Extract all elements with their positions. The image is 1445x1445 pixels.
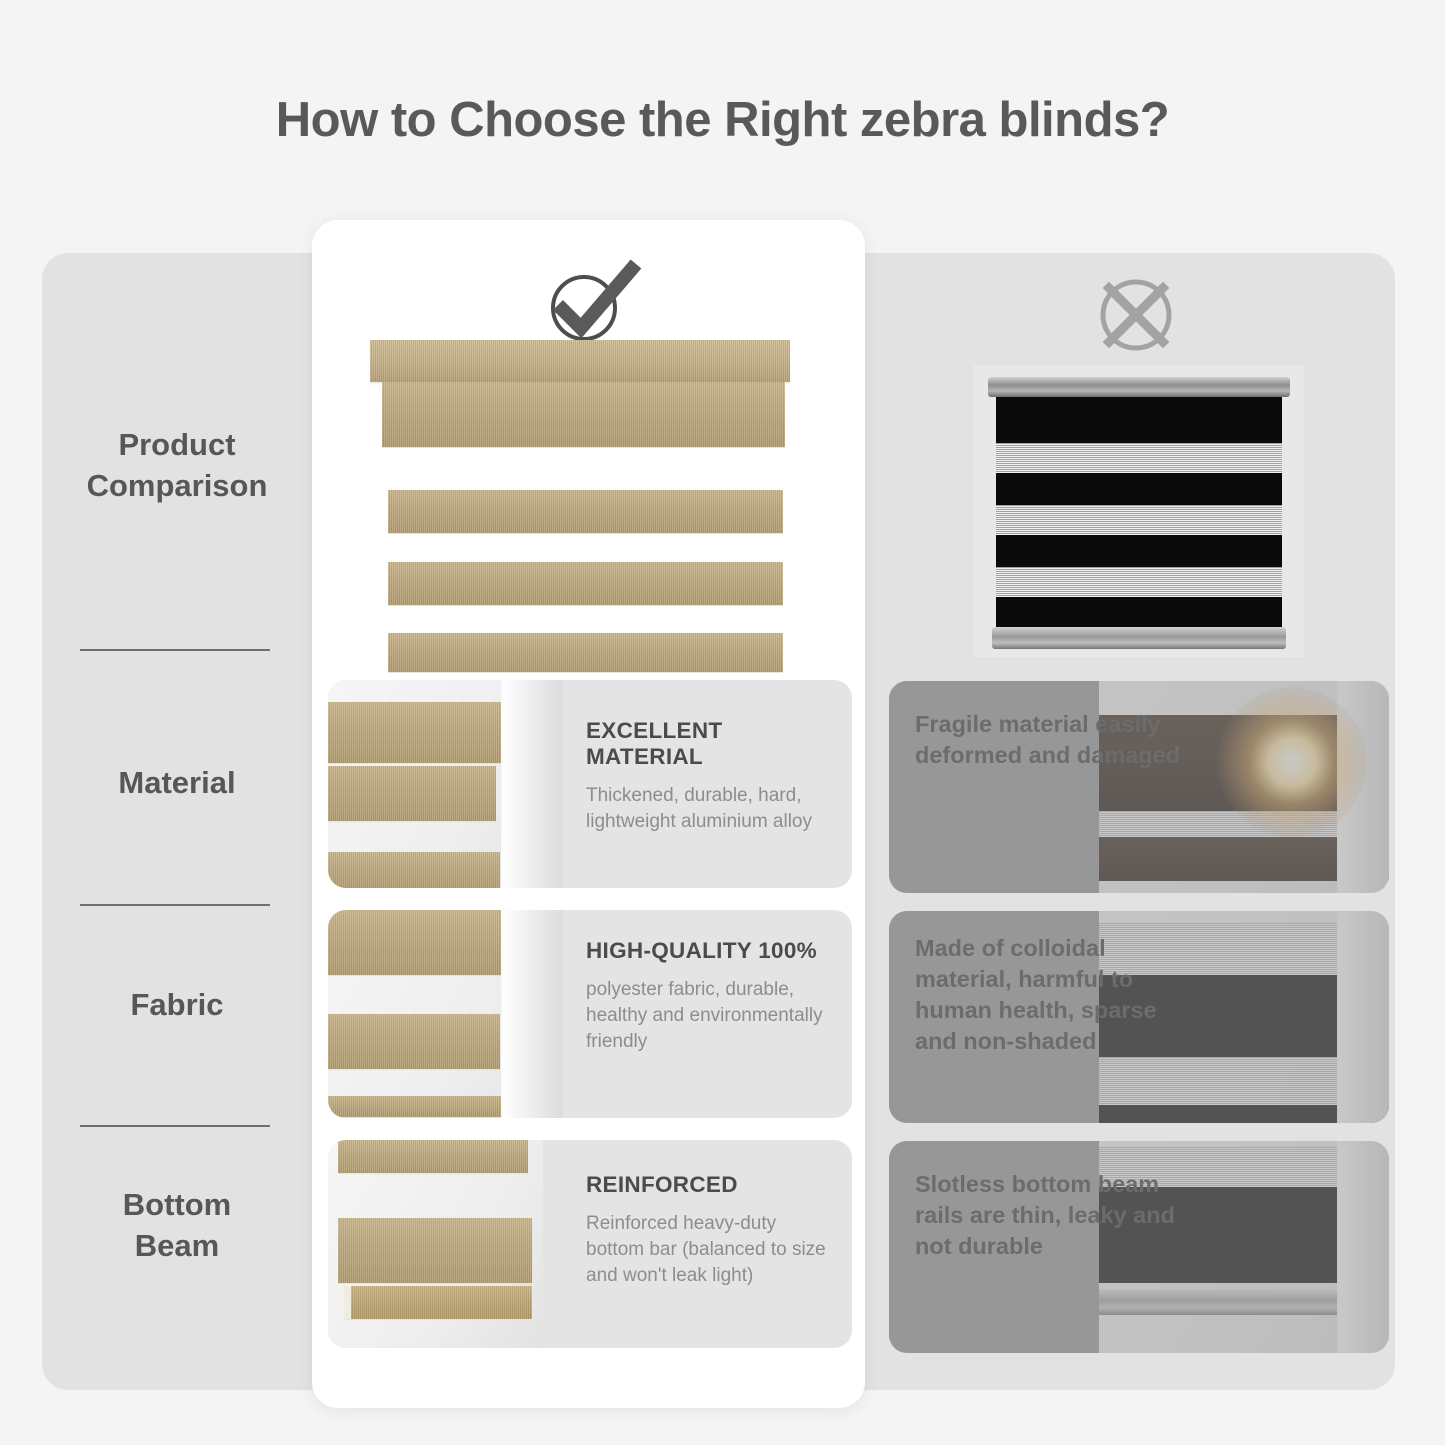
- window-jamb: [501, 910, 563, 1118]
- row-label-bottom-beam: Bottom Beam: [42, 1185, 312, 1267]
- blind-slat: [388, 633, 783, 673]
- row-label-column: Product Comparison Material Fabric Botto…: [42, 253, 312, 1390]
- row-label-line1: Bottom: [42, 1185, 312, 1226]
- reinforced-bottom-bar: [344, 1286, 532, 1320]
- row-label-material: Material: [42, 763, 312, 804]
- not-recommended-column: Fragile material easily deformed and dam…: [878, 253, 1395, 1390]
- blind-slat: [338, 1140, 528, 1174]
- blind-slat: [328, 702, 504, 764]
- bad-row-fabric: Made of colloidal material, harmful to h…: [889, 911, 1389, 1123]
- blind-slat: [328, 1096, 502, 1118]
- x-circle-icon: [1090, 269, 1182, 361]
- good-row-heading: EXCELLENT MATERIAL: [586, 718, 838, 770]
- row-label-line1: Fabric: [42, 985, 312, 1026]
- sheer-stripe: [996, 505, 1282, 535]
- blind-slat: [388, 562, 783, 606]
- tan-fabric-photo: [328, 910, 563, 1118]
- blind-slat: [328, 852, 500, 888]
- check-circle-icon: [544, 258, 642, 348]
- blind-headrail: [988, 377, 1290, 397]
- blind-slat: [338, 1218, 532, 1284]
- row-label-product-comparison: Product Comparison: [42, 425, 312, 507]
- reinforced-bottom-bar-photo: [328, 1140, 543, 1348]
- good-row-body: polyester fabric, durable, healthy and e…: [586, 977, 838, 1056]
- row-divider: [80, 649, 270, 651]
- good-row-heading: HIGH-QUALITY 100%: [586, 938, 838, 964]
- row-label-line1: Material: [42, 763, 312, 804]
- bad-row-text: Made of colloidal material, harmful to h…: [915, 933, 1185, 1057]
- good-row-body: Reinforced heavy-duty bottom bar (balanc…: [586, 1211, 838, 1290]
- page-title: How to Choose the Right zebra blinds?: [0, 92, 1445, 148]
- bad-row-text: Fragile material easily deformed and dam…: [915, 709, 1185, 771]
- good-row-body: Thickened, durable, hard, lightweight al…: [586, 783, 838, 835]
- tan-blind-window-photo: [328, 680, 563, 888]
- row-divider: [80, 1125, 270, 1127]
- row-divider: [80, 904, 270, 906]
- bad-row-material: Fragile material easily deformed and dam…: [889, 681, 1389, 893]
- window-jamb: [501, 680, 563, 888]
- bad-row-bottom-beam: Slotless bottom beam rails are thin, lea…: [889, 1141, 1389, 1353]
- blind-slat: [388, 490, 783, 534]
- good-row-bottom-beam: REINFORCED Reinforced heavy-duty bottom …: [328, 1140, 852, 1348]
- row-label-line2: Comparison: [42, 466, 312, 507]
- good-row-material: EXCELLENT MATERIAL Thickened, durable, h…: [328, 680, 852, 888]
- recommended-column: EXCELLENT MATERIAL Thickened, durable, h…: [312, 220, 865, 1408]
- good-row-text-block: REINFORCED Reinforced heavy-duty bottom …: [586, 1172, 838, 1290]
- good-row-heading: REINFORCED: [586, 1172, 838, 1198]
- blind-slat: [328, 766, 496, 822]
- blind-headrail: [370, 340, 790, 382]
- row-label-line2: Beam: [42, 1226, 312, 1267]
- bad-row-text: Slotless bottom beam rails are thin, lea…: [915, 1169, 1185, 1262]
- blind-body: [996, 387, 1282, 629]
- good-row-text-block: HIGH-QUALITY 100% polyester fabric, dura…: [586, 938, 838, 1056]
- blind-slat: [382, 382, 785, 448]
- sheer-stripe: [996, 443, 1282, 473]
- row-label-fabric: Fabric: [42, 985, 312, 1026]
- good-row-text-block: EXCELLENT MATERIAL Thickened, durable, h…: [586, 718, 838, 835]
- good-row-fabric: HIGH-QUALITY 100% polyester fabric, dura…: [328, 910, 852, 1118]
- blind-slat: [328, 910, 504, 976]
- sheer-stripe: [996, 567, 1282, 597]
- row-label-line1: Product: [42, 425, 312, 466]
- blind-slat: [328, 1014, 500, 1070]
- black-zebra-blind-image: [974, 365, 1304, 657]
- blind-bottom-rail: [992, 627, 1286, 649]
- tan-zebra-blind-image: [370, 340, 790, 670]
